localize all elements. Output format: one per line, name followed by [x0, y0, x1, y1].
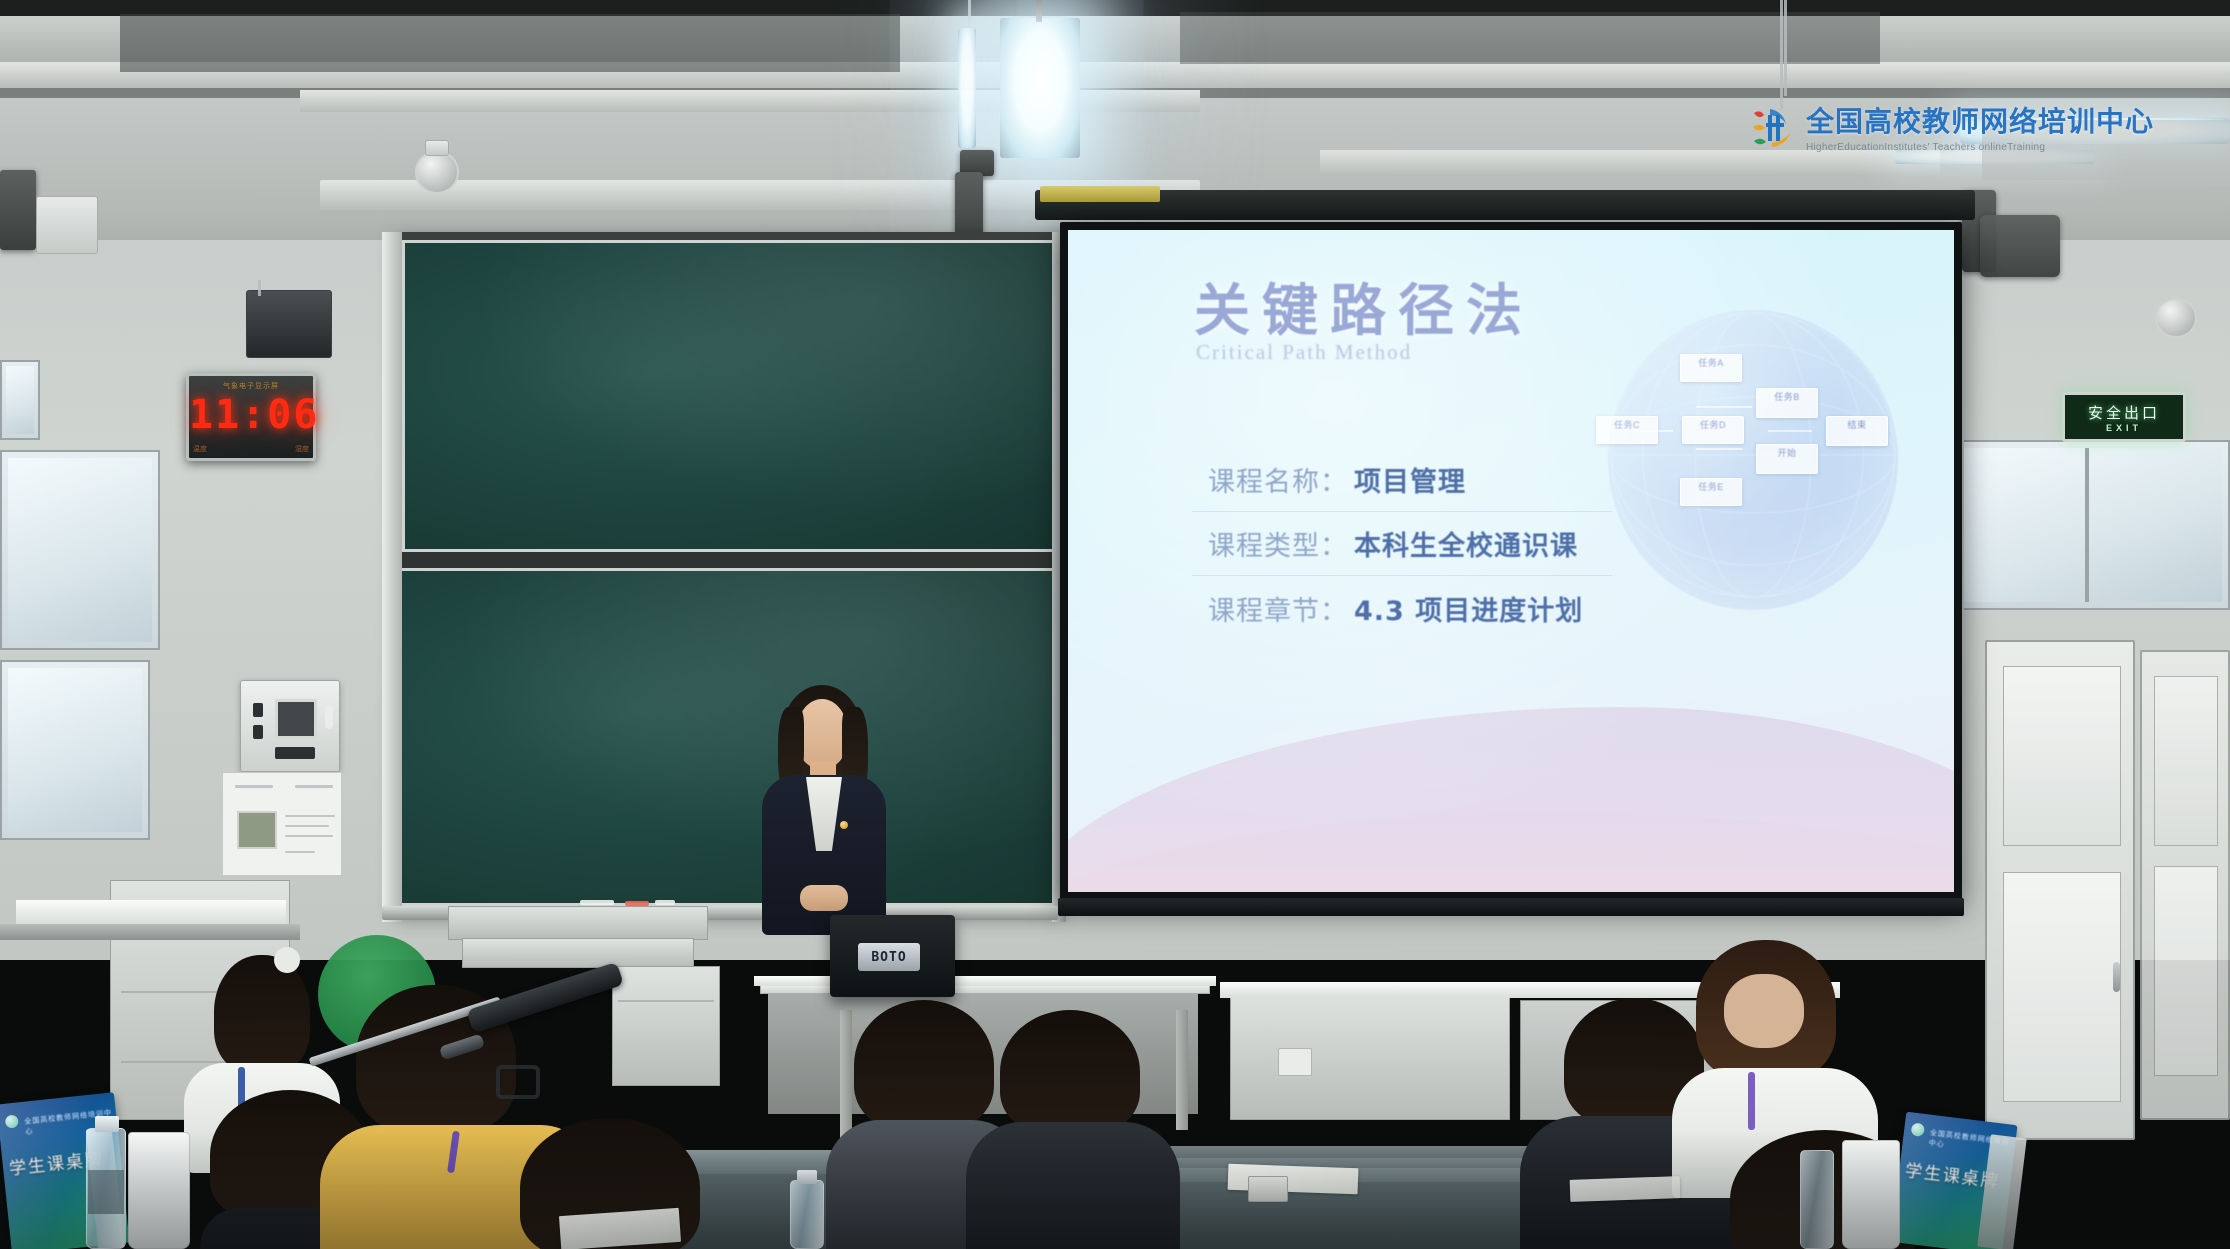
podium-line-1: [618, 1000, 714, 1002]
presenter-hands: [800, 885, 848, 911]
exit-sign: 安全出口 EXIT: [2062, 392, 2186, 442]
ceiling-recess-left: [120, 14, 900, 72]
slide-info-row-3: 课程章节： 4.3 项目进度计划: [1192, 576, 1612, 640]
slide-info-row-1: 课程名称： 项目管理: [1192, 448, 1612, 512]
monitor-box: BOTO: [830, 915, 955, 997]
globe-graphic: [1608, 310, 1898, 610]
diagram-node-5: 开始: [1756, 444, 1818, 474]
clock-header: 气象电子显示屏: [189, 381, 313, 391]
diagram-link-2: [1696, 448, 1742, 450]
wall-device-stem: [258, 280, 261, 296]
hett-logo-icon: [1748, 103, 1796, 151]
slide-wave-front: [1068, 707, 1954, 892]
person-8-face: [1724, 974, 1804, 1048]
person-6-hair: [1000, 1010, 1140, 1134]
info-label-2: 课程类型：: [1208, 524, 1348, 563]
info-label-1: 课程名称：: [1208, 460, 1348, 499]
slide-info-row-2: 课程类型： 本科生全校通识课: [1192, 512, 1612, 576]
door-right[interactable]: [1985, 640, 2135, 1140]
person-3-glasses: [496, 1065, 540, 1099]
chalkboard-rail-left: [382, 232, 402, 922]
chalkboard-upper: [402, 240, 1058, 552]
clock-time: 11:06: [189, 392, 313, 438]
slide-subtitle: Critical Path Method: [1196, 340, 1412, 365]
chalk-piece-1[interactable]: [580, 900, 614, 905]
watermark-title-en: HigherEducationInstitutes' Teachers onli…: [1806, 142, 2154, 153]
foreground-shadow: [0, 1130, 2230, 1249]
wall-mic-left: [0, 170, 36, 250]
teacher-console-top: [16, 900, 286, 924]
diagram-node-2: 任务B: [1756, 388, 1818, 418]
panel-display: [275, 699, 317, 739]
projection-screen: 任务A 任务B 任务C 任务D 开始 结束 任务E 关键路径法 Critical…: [1060, 222, 1962, 900]
window-right: [1940, 440, 2230, 610]
podium-top: [448, 906, 708, 940]
screen-bottom-bar: [1058, 898, 1964, 916]
clock-footer-right: 湿度: [295, 444, 309, 454]
digital-clock: 气象电子显示屏 11:06 温度 湿度: [186, 373, 316, 461]
wall-notice: [222, 772, 342, 876]
diagram-node-4: 任务D: [1682, 416, 1744, 444]
wall-speaker-right-2: [1980, 215, 2060, 277]
door-right-2[interactable]: [2140, 650, 2230, 1120]
light-hanger-3: [1784, 0, 1787, 96]
ceiling-beam-4: [1320, 150, 1940, 176]
info-label-3: 课程章节：: [1208, 589, 1348, 628]
broadcast-watermark: 全国高校教师网络培训中心 HigherEducationInstitutes' …: [1748, 100, 2154, 153]
info-value-2: 本科生全校通识课: [1354, 524, 1578, 563]
diagram-link-3: [1768, 430, 1812, 432]
diagram-node-1: 任务A: [1680, 354, 1742, 382]
ceiling-light-main: [1000, 18, 1080, 158]
ceiling-recess-right: [1180, 12, 1880, 64]
diagram-link-1: [1696, 406, 1752, 408]
panel-indicator: [325, 705, 333, 729]
slide-info-rows: 课程名称： 项目管理 课程类型： 本科生全校通识课 课程章节： 4.3 项目进度…: [1192, 448, 1612, 640]
window-left-small: [0, 360, 40, 440]
chalk-piece-3[interactable]: [655, 900, 675, 905]
person-8-lanyard: [1748, 1072, 1755, 1130]
window-left-lower: [0, 660, 150, 840]
presenter-badge-pin: [840, 821, 848, 829]
window-left-upper: [0, 450, 160, 650]
light-hanger-2: [1780, 0, 1783, 110]
clock-footer: 温度 湿度: [193, 444, 309, 454]
light-stem-main: [1036, 0, 1042, 22]
clock-footer-left: 温度: [193, 444, 207, 454]
watermark-title-cn: 全国高校教师网络培训中心: [1806, 100, 2154, 140]
slide-title: 关键路径法: [1194, 266, 1534, 347]
exit-sign-cn: 安全出口: [2088, 402, 2160, 423]
front-desk-edge: [754, 976, 1216, 986]
wall-socket[interactable]: [1278, 1048, 1312, 1076]
ceiling-light-tube: [958, 28, 976, 148]
diagram-node-7: 任务E: [1680, 478, 1742, 506]
placard-logo-icon: [5, 1115, 19, 1129]
chalkboard-lower: [382, 568, 1058, 906]
panel-button-row[interactable]: [275, 747, 315, 759]
teacher-console-edge: [0, 924, 300, 940]
info-value-3: 4.3 项目进度计划: [1354, 589, 1583, 628]
panel-button-2[interactable]: [253, 725, 263, 739]
right-cabinet: [1230, 990, 1510, 1120]
classroom-scene: 安全出口 EXIT: [0, 0, 2230, 1249]
person-1-hairtie: [274, 947, 300, 973]
wall-device-box: [246, 290, 332, 358]
exit-sign-en: EXIT: [2106, 423, 2142, 433]
person-1-hair: [214, 955, 310, 1073]
info-value-1: 项目管理: [1354, 460, 1466, 499]
wall-box-left: [36, 196, 98, 254]
slide-surface: 任务A 任务B 任务C 任务D 开始 结束 任务E 关键路径法 Critical…: [1068, 230, 1954, 892]
diagram-node-6: 结束: [1826, 416, 1888, 446]
globe-mesh-icon: [1608, 310, 1898, 600]
podium-body: [612, 966, 720, 1086]
wall-control-panel[interactable]: [240, 680, 340, 772]
monitor-badge: BOTO: [858, 943, 920, 971]
presenter: [748, 685, 898, 935]
camera-dome: [415, 150, 459, 194]
screen-roller-case: [1035, 190, 1975, 220]
panel-button-1[interactable]: [253, 703, 263, 717]
podium-shelf: [462, 938, 694, 968]
screen-case-label: [1040, 186, 1160, 202]
camera-mount: [425, 140, 449, 156]
camera-dome-right: [2155, 298, 2197, 338]
watermark-text: 全国高校教师网络培训中心 HigherEducationInstitutes' …: [1806, 100, 2154, 153]
diagram-node-3: 任务C: [1596, 416, 1658, 444]
